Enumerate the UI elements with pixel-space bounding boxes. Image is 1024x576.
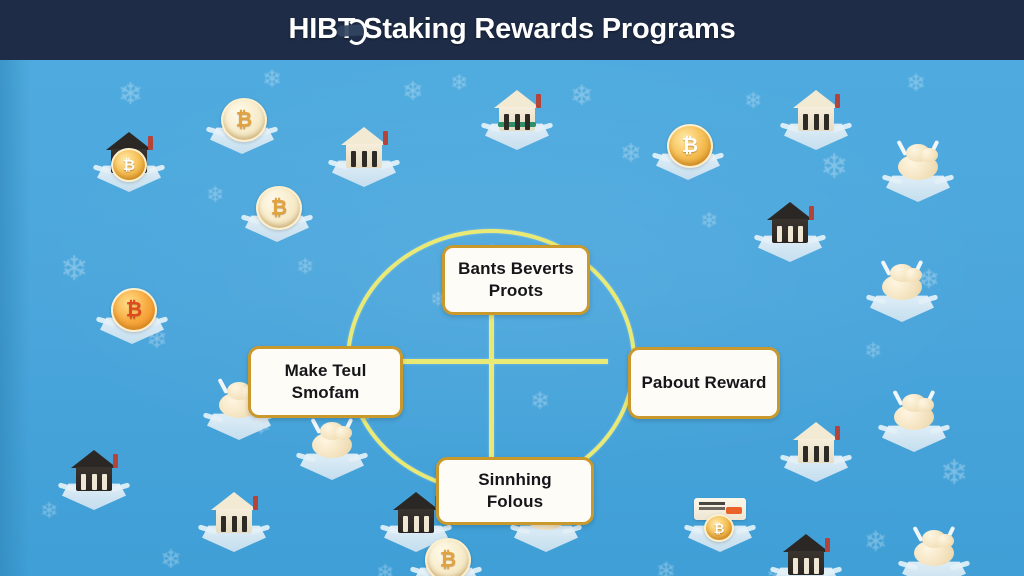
bundle-tile [900, 526, 968, 576]
bundle-tile [880, 390, 948, 452]
diagram-node-top[interactable]: Bants Beverts Proots [442, 245, 590, 315]
bitcoin-coin-icon: ₿ [221, 98, 267, 142]
bank-tile: ₿ [95, 130, 163, 192]
bank-building-icon [341, 127, 387, 169]
diagram-node-left[interactable]: Make Teul Smofam [248, 346, 403, 418]
coin-tile: ₿ [654, 118, 722, 180]
bank-tile [60, 448, 128, 510]
snowflake-icon: ❄ [118, 80, 143, 110]
page-title: HIBT Staking Rewards Programs [0, 0, 1024, 60]
snowflake-icon: ❄ [620, 140, 642, 166]
bank-tile [330, 125, 398, 187]
snowflake-icon: ❄ [820, 150, 849, 184]
diagram-spoke-horizontal [376, 359, 608, 364]
snowflake-icon: ❄ [262, 68, 282, 92]
coin-tile: ₿ [208, 92, 276, 154]
money-bundle-icon [910, 530, 958, 568]
left-edge-strip [0, 60, 30, 576]
node-left-line2: Smofam [292, 383, 360, 402]
bank-building-icon [494, 90, 540, 132]
node-left-line1: Make Teul [285, 361, 367, 380]
money-bundle-icon [890, 394, 938, 432]
bank-tile [782, 88, 850, 150]
snowflake-icon: ❄ [376, 562, 394, 576]
bank-tile [772, 532, 840, 576]
bitcoin-coin-icon: ₿ [111, 288, 157, 332]
snowflake-icon: ❄ [40, 500, 58, 522]
bank-tile [483, 88, 551, 150]
snowflake-icon: ❄ [864, 340, 882, 362]
bank-building-icon [71, 450, 117, 492]
money-bundle-icon [878, 264, 926, 302]
bitcoin-coin-icon: ₿ [425, 538, 471, 576]
snowflake-icon: ❄ [656, 560, 676, 576]
diagram-node-right[interactable]: Pabout Reward [628, 347, 780, 419]
diagram-canvas: ❄❄❄❄❄❄❄❄❄❄❄❄❄❄❄❄❄❄❄❄❄❄❄❄❄❄❄❄ ₿₿₿₿₿₿₿ Ban… [0, 60, 1024, 576]
snowflake-icon: ❄ [906, 72, 926, 96]
snowflake-icon: ❄ [744, 90, 762, 112]
snowflake-icon: ❄ [402, 78, 424, 104]
snowflake-icon: ❄ [940, 456, 969, 490]
diagram-node-top-label: Bants Beverts Proots [458, 258, 574, 302]
coin-tile: ₿ [98, 282, 166, 344]
bitcoin-coin-icon: ₿ [111, 148, 147, 182]
diagram-node-bottom-label: Sinnhing Folous [449, 469, 581, 513]
snowflake-icon: ❄ [450, 72, 468, 94]
cycle-diagram: Bants Beverts Proots Make Teul Smofam Pa… [246, 185, 796, 537]
bundle-tile [884, 140, 952, 202]
snowflake-icon: ❄ [864, 528, 887, 556]
snowflake-icon: ❄ [570, 82, 593, 110]
money-bundle-icon [894, 144, 942, 182]
app-screenshot: HIBT Staking Rewards Programs ❄❄❄❄❄❄❄❄❄❄… [0, 0, 1024, 576]
node-top-line2: Proots [489, 281, 543, 300]
bank-building-icon [783, 534, 829, 576]
bank-building-icon [793, 422, 839, 464]
diagram-node-bottom[interactable]: Sinnhing Folous [436, 457, 594, 525]
snowflake-icon: ❄ [206, 184, 224, 206]
snowflake-icon: ❄ [60, 252, 89, 286]
diagram-node-right-label: Pabout Reward [641, 372, 766, 394]
page-header: HIBT Staking Rewards Programs [0, 0, 1024, 60]
snowflake-icon: ❄ [160, 546, 182, 572]
diagram-node-left-label: Make Teul Smofam [285, 360, 367, 404]
node-top-line1: Bants Beverts [458, 259, 574, 278]
bitcoin-coin-icon: ₿ [667, 124, 713, 168]
coin-tile: ₿ [412, 532, 480, 576]
bank-building-icon [793, 90, 839, 132]
bundle-tile [868, 260, 936, 322]
